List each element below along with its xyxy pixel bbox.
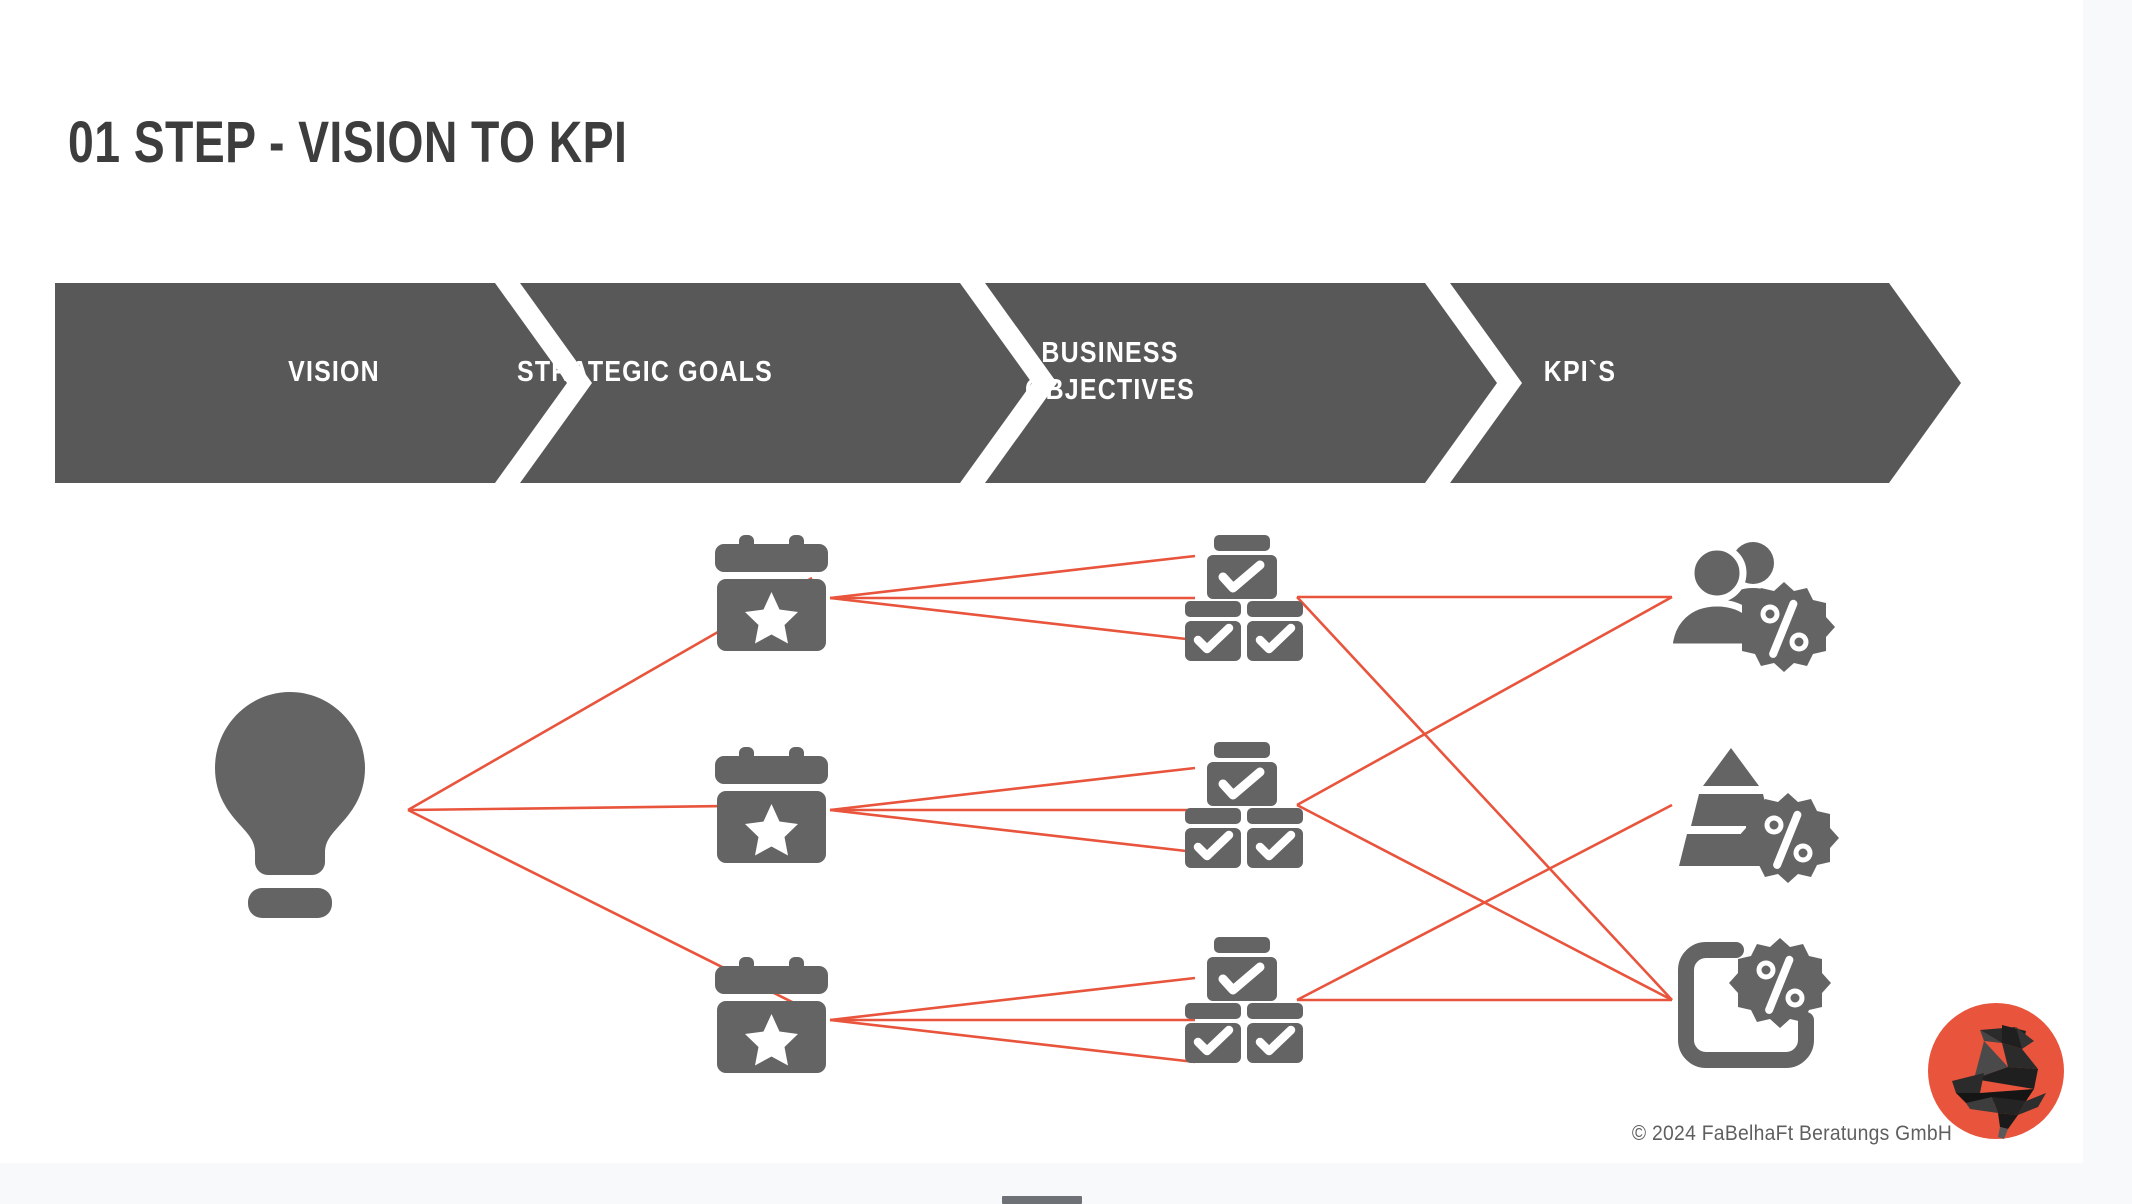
connectors-objectives-to-kpis	[1297, 597, 1672, 1000]
bracket-percent-icon	[1686, 938, 1831, 1060]
connectors-goal2-to-objective2	[830, 768, 1195, 852]
connector-goal1-obj1-a	[830, 556, 1195, 598]
connector-goal3-obj3-a	[830, 978, 1195, 1020]
node-strategic-goal-2[interactable]	[715, 747, 828, 863]
node-strategic-goal-1[interactable]	[715, 535, 828, 651]
copyright-text: © 2024 FaBelhaFt Beratungs GmbH	[1632, 1122, 1952, 1146]
slide-viewport: 01 STEP - VISION TO KPI VISION STRATEGIC…	[0, 0, 2132, 1204]
node-kpi-people-percent[interactable]	[1669, 542, 1835, 672]
checked-boxes-icon	[1185, 535, 1303, 661]
node-vision-lightbulb[interactable]	[215, 692, 365, 918]
connectors-goal1-to-objective1	[830, 556, 1195, 640]
connector-lines	[408, 556, 1672, 1062]
connector-obj2-kpi1	[1297, 597, 1672, 805]
slide-canvas: 01 STEP - VISION TO KPI VISION STRATEGIC…	[0, 0, 2083, 1163]
node-strategic-goal-3[interactable]	[715, 957, 828, 1073]
node-business-objective-3[interactable]	[1185, 937, 1303, 1063]
node-business-objective-1[interactable]	[1185, 535, 1303, 661]
node-kpi-pyramid-percent[interactable]	[1679, 748, 1839, 883]
node-kpi-bracket-percent[interactable]	[1686, 938, 1831, 1060]
calendar-star-icon	[715, 747, 828, 863]
calendar-star-icon	[715, 535, 828, 651]
connector-goal2-obj2-a	[830, 768, 1195, 810]
page-scroll-indicator[interactable]	[1002, 1196, 1082, 1204]
checked-boxes-icon	[1185, 742, 1303, 868]
connector-goal3-obj3-c	[830, 1020, 1195, 1062]
calendar-star-icon	[715, 957, 828, 1073]
connector-goal1-obj1-c	[830, 598, 1195, 640]
connectors-goal3-to-objective3	[830, 978, 1195, 1062]
people-percent-icon	[1669, 542, 1835, 672]
node-business-objective-2[interactable]	[1185, 742, 1303, 868]
slide-right-margin	[2083, 0, 2132, 1163]
pyramid-percent-icon	[1679, 748, 1839, 883]
connector-goal2-obj2-c	[830, 810, 1195, 852]
vision-to-kpi-diagram	[0, 0, 2083, 1163]
checked-boxes-icon	[1185, 937, 1303, 1063]
raven-logo[interactable]	[1922, 997, 2070, 1145]
connector-obj1-kpi3	[1297, 597, 1672, 1000]
